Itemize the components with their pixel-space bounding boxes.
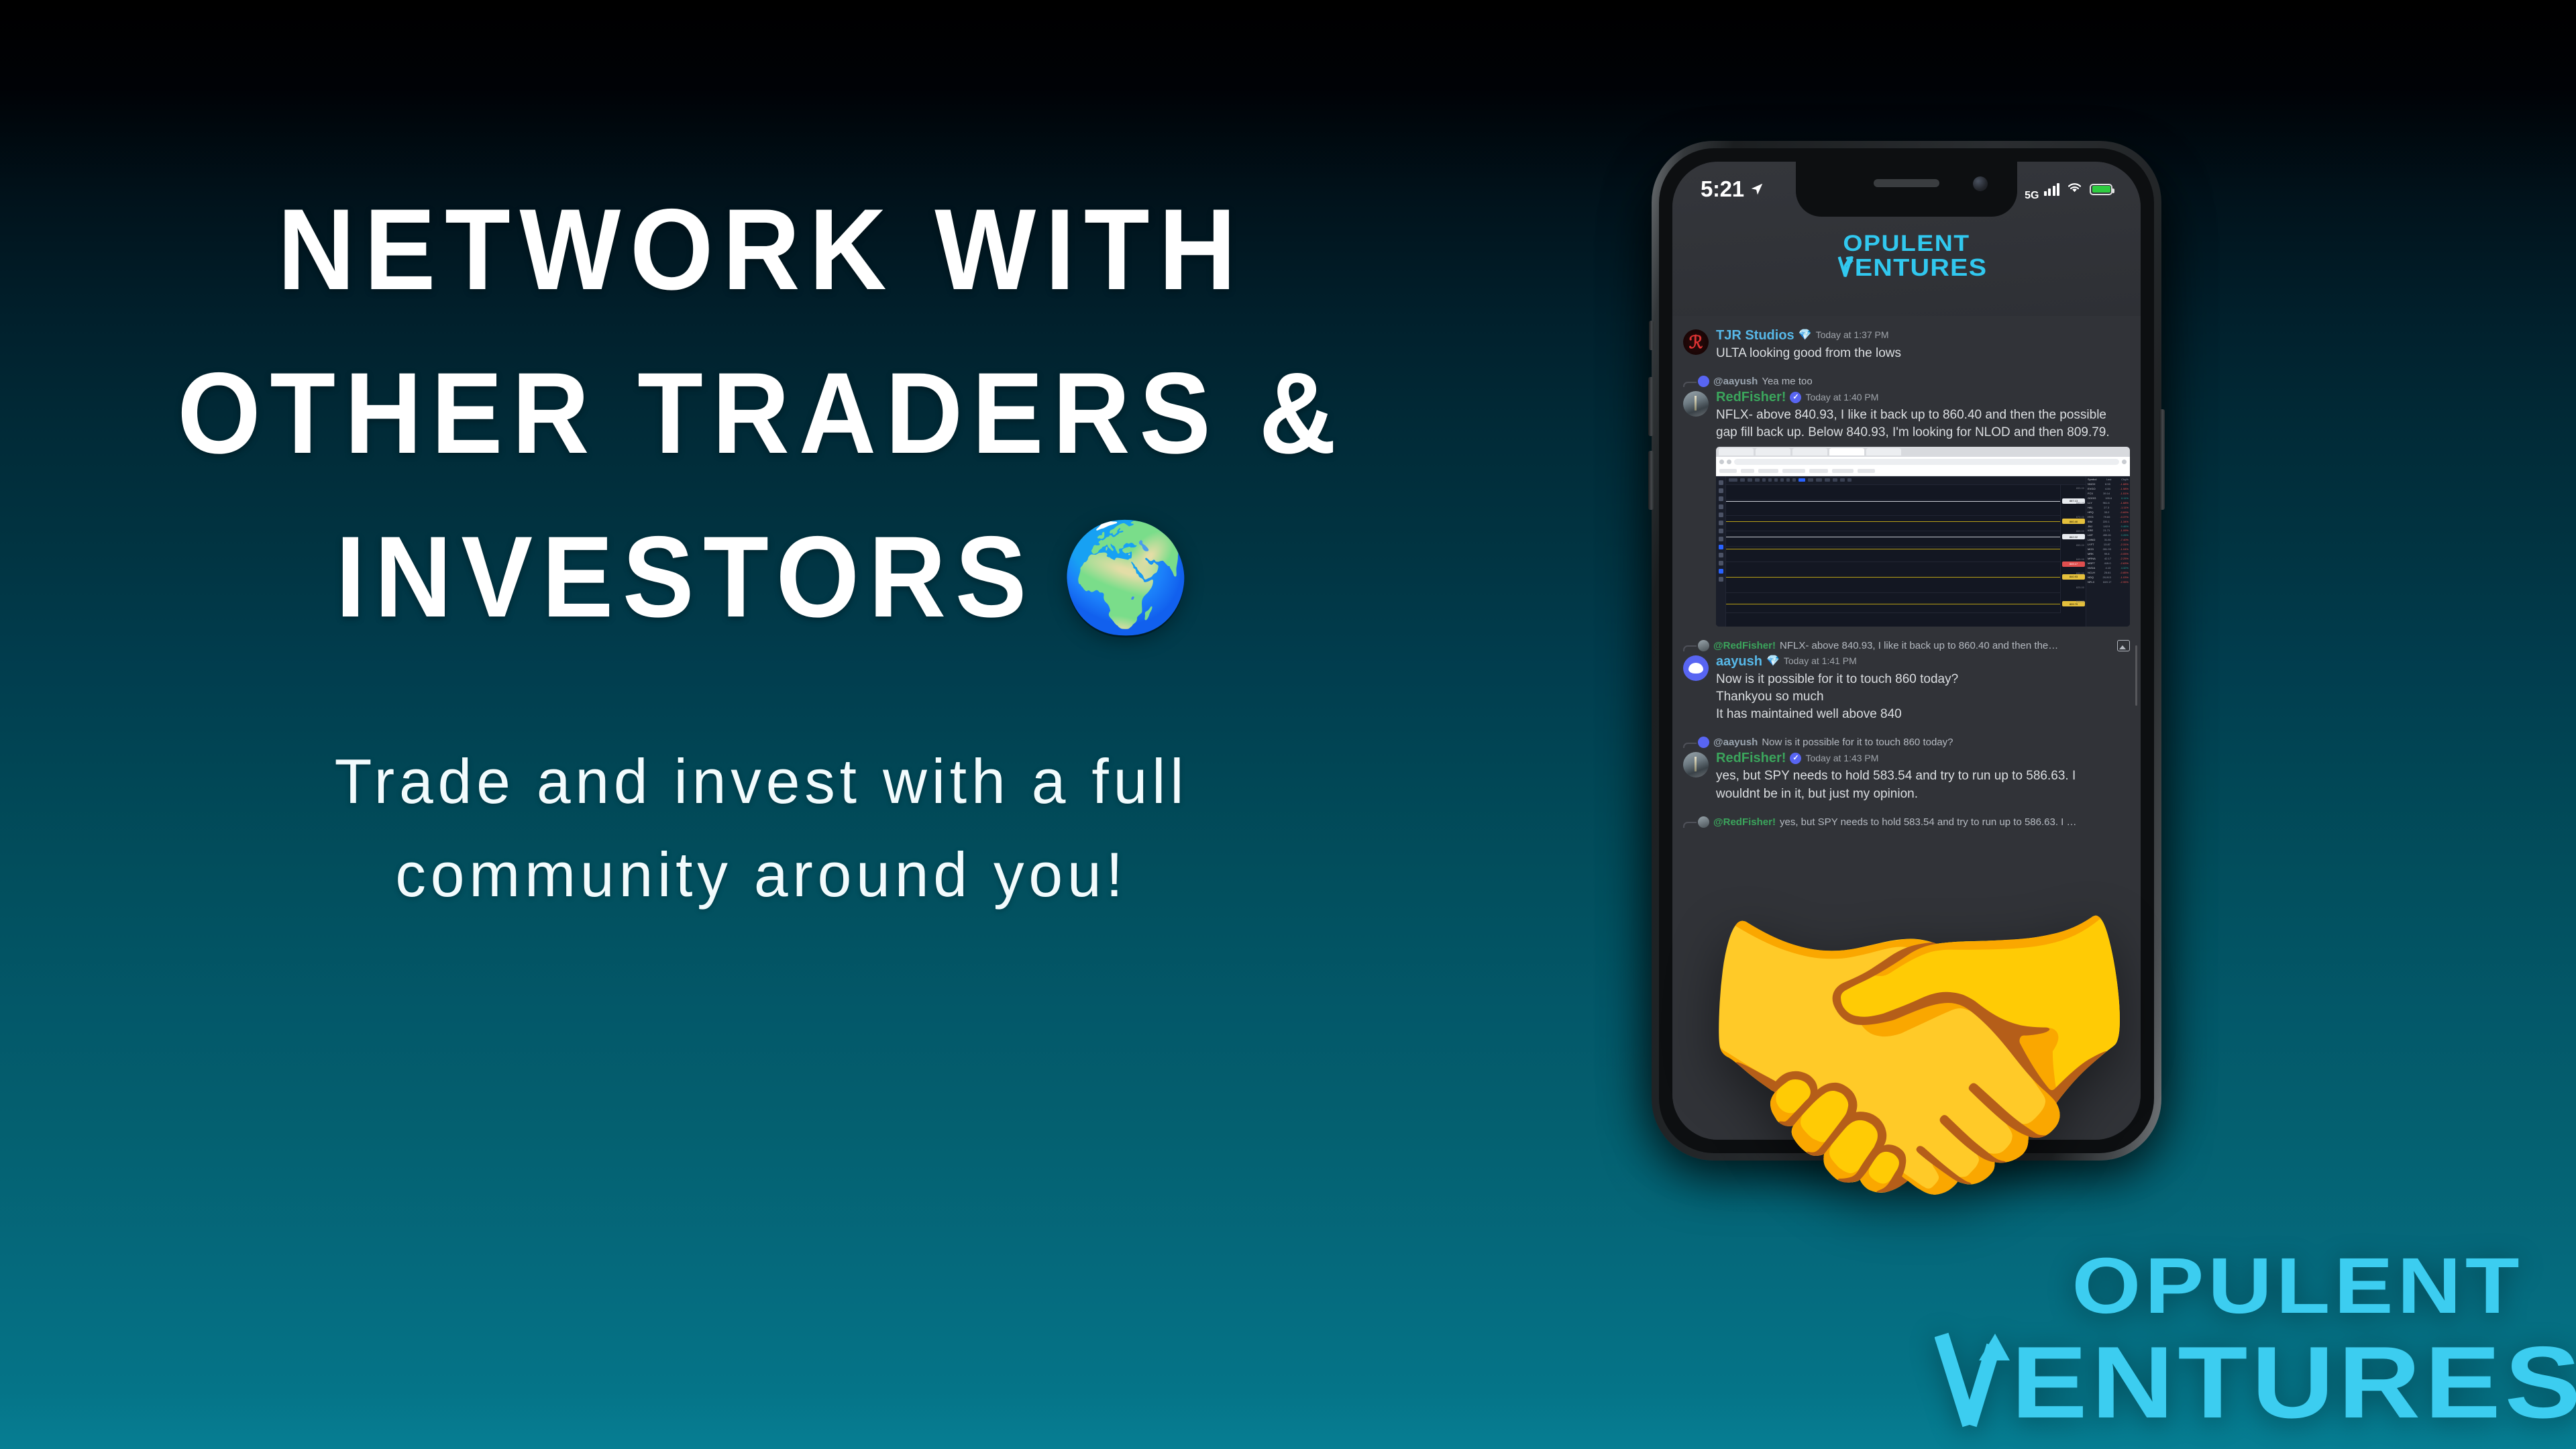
watchlist-row[interactable]: MSFT415.0-2.63% xyxy=(2088,562,2129,565)
brush-tool-icon[interactable] xyxy=(1719,529,1723,533)
watchlist-row[interactable]: LMND31.81-7.40% xyxy=(2088,539,2129,541)
arrow-up-v-icon xyxy=(1838,256,1856,278)
avatar-tjr-studios[interactable] xyxy=(1683,329,1709,355)
reply-text: Now is it possible for it to touch 860 t… xyxy=(1762,737,1953,748)
watchlist-row[interactable]: GOOG195.60.11% xyxy=(2088,497,2129,500)
y-tick: 835.00 xyxy=(2076,572,2084,575)
power-button[interactable] xyxy=(2159,409,2165,510)
reply-text: yes, but SPY needs to hold 583.54 and tr… xyxy=(1780,816,2077,828)
location-arrow-icon xyxy=(1750,176,1764,202)
indicators-icon[interactable] xyxy=(1816,478,1822,482)
bookmark-item[interactable] xyxy=(1809,469,1828,473)
reply-reference[interactable]: @aayush Now is it possible for it to tou… xyxy=(1683,737,2130,748)
bookmark-item[interactable] xyxy=(1782,469,1805,473)
interval-w[interactable] xyxy=(1792,478,1796,482)
watchlist-row[interactable]: JNJ142.90.46% xyxy=(2088,525,2129,528)
network-type-label: 5G xyxy=(2025,191,2039,201)
y-tick: 895.00 xyxy=(2076,486,2084,490)
watchlist-row[interactable]: NNOX8.55-1.68% xyxy=(2088,483,2129,486)
watchlist-row[interactable]: MRK99.8-0.05% xyxy=(2088,553,2129,555)
reply-avatar-aayush xyxy=(1698,376,1709,387)
message-text: yes, but SPY needs to hold 583.54 and tr… xyxy=(1716,767,2130,785)
bookmark-item[interactable] xyxy=(1858,469,1875,473)
interval-5m[interactable] xyxy=(1740,478,1745,482)
y-tick: 815.00 xyxy=(2076,600,2084,603)
headline-line-2: OTHER TRADERS & xyxy=(53,331,1469,495)
reply-mention[interactable]: @RedFisher! xyxy=(1713,816,1776,828)
bookmark-item[interactable] xyxy=(1832,469,1854,473)
reply-mention[interactable]: @aayush xyxy=(1713,737,1758,748)
message-timestamp: Today at 1:43 PM xyxy=(1805,753,1878,763)
message-item: RedFisher! ✓ Today at 1:43 PM yes, but S… xyxy=(1683,751,2130,802)
hero-copy: NETWORK WITH OTHER TRADERS & INVESTORS 🌍… xyxy=(0,168,1523,921)
symbol-search-icon[interactable] xyxy=(1729,478,1737,482)
interval-15m-active[interactable] xyxy=(1799,478,1805,482)
time-axis[interactable] xyxy=(1726,612,2060,627)
watchlist-header: Symbol Last Chg% xyxy=(2088,478,2129,481)
headline-line-1: NETWORK WITH xyxy=(53,168,1469,331)
browser-tab-strip xyxy=(1716,447,2130,457)
remove-tool-icon[interactable] xyxy=(1719,577,1723,582)
hero-subtitle: Trade and invest with a full community a… xyxy=(23,735,1500,921)
reply-avatar-redfisher xyxy=(1698,640,1709,651)
message-text: ULTA looking good from the lows xyxy=(1716,345,2130,362)
brand-logo-bottom-word: ENTURES xyxy=(2011,1337,2576,1429)
pattern-tool-icon[interactable] xyxy=(1719,521,1723,525)
y-tick: 885.00 xyxy=(2076,501,2084,504)
watchlist-row[interactable]: LYFT13.87-2.31% xyxy=(2088,543,2129,546)
bookmark-item[interactable] xyxy=(1741,469,1754,473)
reply-reference[interactable]: @RedFisher! yes, but SPY needs to hold 5… xyxy=(1683,816,2130,828)
browser-address-bar[interactable] xyxy=(1716,457,2130,467)
reply-mention[interactable]: @RedFisher! xyxy=(1713,640,1776,651)
reply-mention[interactable]: @aayush xyxy=(1713,376,1758,387)
alert-icon[interactable] xyxy=(1833,478,1837,482)
brand-logo-bottom: ENTURES xyxy=(1935,1331,2524,1429)
headline-line-3-text: INVESTORS xyxy=(335,495,1036,659)
app-logo: OPULENT ENTURES xyxy=(1838,234,1976,278)
y-tick: 855.00 xyxy=(2076,543,2084,547)
cursor-tool-icon[interactable] xyxy=(1719,480,1723,485)
watchlist-row[interactable]: NCLH25.61-0.85% xyxy=(2088,572,2129,574)
browser-tab[interactable] xyxy=(1719,448,1754,455)
brand-logo: OPULENT ENTURES xyxy=(1935,1250,2524,1429)
message-text: Thankyou so much xyxy=(1716,688,2130,706)
y-tick: 875.00 xyxy=(2076,515,2084,519)
interval-d[interactable] xyxy=(1786,478,1790,482)
reply-text: Yea me too xyxy=(1762,376,1812,387)
bookmark-item[interactable] xyxy=(1758,469,1778,473)
interval-45m[interactable] xyxy=(1755,478,1760,482)
message-group: @aayush Now is it possible for it to tou… xyxy=(1683,737,2130,802)
subtitle-line-2: community around you! xyxy=(23,828,1500,921)
message-text: gap fill back up. Below 840.93, I'm look… xyxy=(1716,424,2130,441)
watchlist-row[interactable]: HPQ33.2-0.69% xyxy=(2088,511,2129,514)
watchlist-row[interactable]: NDQ20,913-1.03% xyxy=(2088,576,2129,579)
message-timestamp: Today at 1:41 PM xyxy=(1784,656,1857,666)
star-icon[interactable] xyxy=(2122,460,2127,464)
bookmark-item[interactable] xyxy=(1719,469,1737,473)
url-field[interactable] xyxy=(1734,459,2119,465)
tradingview-app: 887.13 860.40 862.02 849.17 xyxy=(1716,476,2130,627)
fib-tool-icon[interactable] xyxy=(1719,496,1723,501)
message-author[interactable]: RedFisher! xyxy=(1716,390,1786,405)
message-text: Now is it possible for it to touch 860 t… xyxy=(1716,671,2130,688)
message-author[interactable]: RedFisher! xyxy=(1716,751,1786,765)
watchlist-row[interactable]: HYG79.65-0.37% xyxy=(2088,516,2129,519)
interval-2h[interactable] xyxy=(1768,478,1772,482)
undo-icon[interactable] xyxy=(1847,478,1851,482)
globe-europe-africa-emoji: 🌍 xyxy=(1060,525,1192,631)
mute-switch[interactable] xyxy=(1649,321,1654,350)
interval-3h[interactable] xyxy=(1774,478,1778,482)
app-logo-bottom: ENTURES xyxy=(1838,256,1976,278)
signal-bars-icon xyxy=(2044,183,2060,196)
reply-reference[interactable]: @aayush Yea me too xyxy=(1683,376,2130,387)
price-axis[interactable]: 895.00 885.00 875.00 865.00 855.00 845.0… xyxy=(2060,484,2086,613)
message-author[interactable]: TJR Studios xyxy=(1716,328,1794,343)
watchlist-row[interactable]: MCD281.93-1.04% xyxy=(2088,548,2129,551)
chart-type-icon[interactable] xyxy=(1808,478,1813,482)
message-timestamp: Today at 1:40 PM xyxy=(1805,392,1878,402)
watchlist-row[interactable]: LMT455.810.26% xyxy=(2088,534,2129,537)
message-item: TJR Studios 💎 Today at 1:37 PM ULTA look… xyxy=(1683,328,2130,362)
objecttree-tool-icon[interactable] xyxy=(1719,569,1723,574)
wifi-icon xyxy=(2067,182,2082,197)
avatar-redfisher[interactable] xyxy=(1683,752,1709,777)
app-logo-top: OPULENT xyxy=(1831,234,1982,254)
subtitle-line-1: Trade and invest with a full xyxy=(23,735,1500,828)
headline-line-3: INVESTORS 🌍 xyxy=(53,495,1469,659)
message-group: @aayush Yea me too RedFisher! ✓ Today at xyxy=(1683,376,2130,626)
bookmarks-bar xyxy=(1716,467,2130,476)
image-attachment-icon xyxy=(2117,640,2130,651)
candlestick-series xyxy=(1726,484,2060,613)
message-item: aayush 💎 Today at 1:41 PM Now is it poss… xyxy=(1683,654,2130,724)
message-author[interactable]: aayush xyxy=(1716,654,1762,669)
battery-charging-icon xyxy=(2090,184,2112,195)
message-text: wouldnt be in it, but just my opinion. xyxy=(1716,786,2130,803)
volume-down-button[interactable] xyxy=(1648,451,1654,510)
avatar-redfisher[interactable] xyxy=(1683,391,1709,417)
status-left: 5:21 xyxy=(1701,176,1764,202)
reload-icon[interactable] xyxy=(1727,460,1731,464)
lock-tool-icon[interactable] xyxy=(1719,553,1723,557)
message-item: RedFisher! ✓ Today at 1:40 PM NFLX- abov… xyxy=(1683,390,2130,626)
reply-avatar-redfisher xyxy=(1698,816,1709,828)
avatar-aayush[interactable] xyxy=(1683,655,1709,681)
volume-up-button[interactable] xyxy=(1648,377,1654,436)
reply-avatar-aayush xyxy=(1698,737,1709,748)
message-group: @RedFisher! NFLX- above 840.93, I like i… xyxy=(1683,640,2130,724)
reply-reference[interactable]: @RedFisher! NFLX- above 840.93, I like i… xyxy=(1683,640,2130,651)
chat-scrollbar[interactable] xyxy=(2135,645,2137,706)
status-time: 5:21 xyxy=(1701,176,1744,202)
browser-tab[interactable] xyxy=(1756,448,1790,455)
measure-tool-icon[interactable] xyxy=(1719,537,1723,541)
chart-canvas[interactable]: 887.13 860.40 862.02 849.17 xyxy=(1726,476,2086,627)
watchlist-row[interactable]: HAL27.3-1.11% xyxy=(2088,506,2129,509)
watchlist-row[interactable]: IBM220.1-1.34% xyxy=(2088,521,2129,523)
verified-badge: ✓ xyxy=(1790,392,1801,403)
status-right: 5G xyxy=(2025,177,2112,201)
reply-text: NFLX- above 840.93, I like it back up to… xyxy=(1780,640,2058,651)
interval-30m[interactable] xyxy=(1748,478,1752,482)
diamond-badge: 💎 xyxy=(1766,656,1780,667)
watchlist-row[interactable]: EVGO4.84-1.58% xyxy=(2088,488,2129,490)
col-symbol: Symbol xyxy=(2088,478,2096,481)
verified-badge: ✓ xyxy=(1790,753,1801,764)
interval-4h[interactable] xyxy=(1780,478,1784,482)
browser-tab[interactable] xyxy=(1866,448,1901,455)
price-chart[interactable]: 887.13 860.40 862.02 849.17 xyxy=(1726,484,2060,613)
back-icon[interactable] xyxy=(1719,460,1724,464)
col-last: Last xyxy=(2106,478,2112,481)
page-title: NETWORK WITH OTHER TRADERS & INVESTORS 🌍 xyxy=(53,168,1469,659)
status-bar: 5:21 5G xyxy=(1672,162,2141,217)
watchlist-panel[interactable]: Symbol Last Chg% NNOX8.55-1.68% EVGO4.84… xyxy=(2086,476,2130,627)
y-tick: 845.00 xyxy=(2076,557,2084,561)
watchlist-row[interactable]: FCX39.14-1.51% xyxy=(2088,492,2129,495)
watchlist-row[interactable]: NVDA4.134.32% xyxy=(2088,567,2129,570)
replay-icon[interactable] xyxy=(1840,478,1845,482)
col-chgpct: Chg% xyxy=(2121,478,2129,481)
handshake-emoji: 🤝 xyxy=(1654,865,2184,1241)
diamond-badge: 💎 xyxy=(1799,330,1812,341)
magnet-tool-icon[interactable] xyxy=(1719,545,1723,549)
y-tick: 825.00 xyxy=(2076,586,2084,589)
chart-drawing-toolbar[interactable] xyxy=(1716,476,1726,627)
text-tool-icon[interactable] xyxy=(1719,513,1723,517)
arrow-up-v-icon xyxy=(1935,1331,2018,1429)
app-logo-bottom-word: ENTURES xyxy=(1855,257,1988,278)
browser-tab[interactable] xyxy=(1792,448,1827,455)
trendline-tool-icon[interactable] xyxy=(1719,488,1723,493)
message-text: NFLX- above 840.93, I like it back up to… xyxy=(1716,407,2130,424)
hide-tool-icon[interactable] xyxy=(1719,561,1723,566)
watchlist-row[interactable]: MRNA42.17-2.25% xyxy=(2088,557,2129,560)
watchlist-row[interactable]: KRE21.71-1.09% xyxy=(2088,529,2129,532)
watchlist-row[interactable]: LLY961.6-1.68% xyxy=(2088,502,2129,504)
tradingview-chart-screenshot[interactable]: 887.13 860.40 862.02 849.17 xyxy=(1716,447,2130,627)
watchlist-row-active[interactable]: NFLX849.17-2.95% xyxy=(2088,581,2129,584)
shapes-tool-icon[interactable] xyxy=(1719,504,1723,509)
message-text: It has maintained well above 840 xyxy=(1716,706,2130,723)
browser-tab-active[interactable] xyxy=(1829,448,1864,455)
message-timestamp: Today at 1:37 PM xyxy=(1816,330,1889,340)
promo-graphic: NETWORK WITH OTHER TRADERS & INVESTORS 🌍… xyxy=(0,0,2576,1449)
interval-1h[interactable] xyxy=(1762,478,1766,482)
y-tick: 865.00 xyxy=(2076,529,2084,533)
templates-icon[interactable] xyxy=(1825,478,1830,482)
